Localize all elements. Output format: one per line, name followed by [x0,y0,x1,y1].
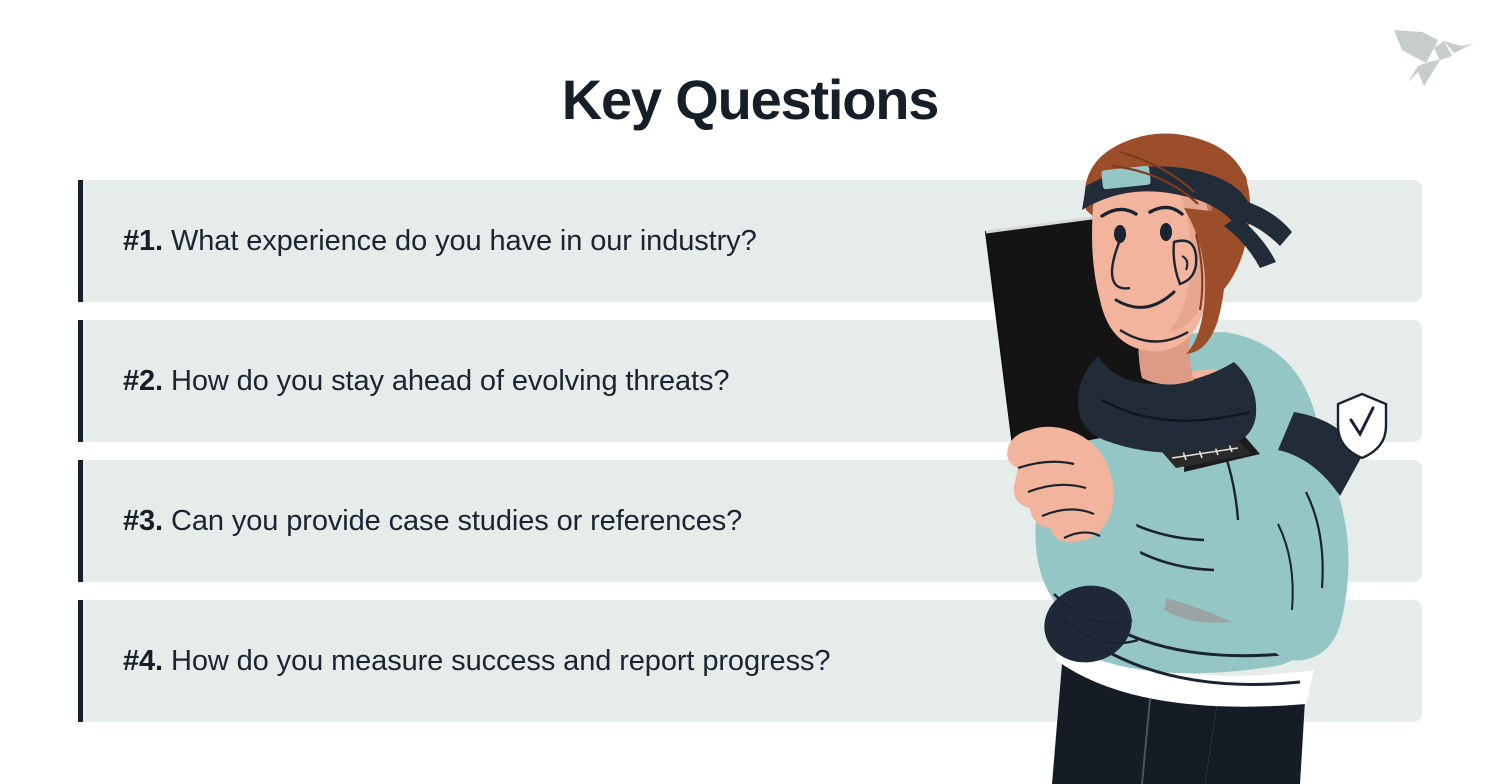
question-text: #1. What experience do you have in our i… [78,223,757,259]
row-accent-bar [78,600,83,722]
question-text: #3. Can you provide case studies or refe… [78,503,742,539]
row-accent-bar [78,180,83,302]
list-item[interactable]: #1. What experience do you have in our i… [78,180,1422,302]
row-accent-bar [78,320,83,442]
question-body: How do you stay ahead of evolving threat… [171,365,729,397]
list-item[interactable]: #4. How do you measure success and repor… [78,600,1422,722]
question-number: #4. [123,645,163,677]
row-accent-bar [78,460,83,582]
question-text: #4. How do you measure success and repor… [78,643,830,679]
page-title: Key Questions [0,67,1500,132]
questions-list: #1. What experience do you have in our i… [78,180,1422,722]
question-number: #2. [123,365,163,397]
list-item[interactable]: #2. How do you stay ahead of evolving th… [78,320,1422,442]
question-body: Can you provide case studies or referenc… [171,505,742,537]
question-number: #3. [123,505,163,537]
question-body: What experience do you have in our indus… [171,225,757,257]
slide-root: Key Questions #1. What experience do you… [0,0,1500,784]
question-number: #1. [123,225,163,257]
question-text: #2. How do you stay ahead of evolving th… [78,363,729,399]
origami-bird-logo [1382,16,1486,92]
question-body: How do you measure success and report pr… [171,645,830,677]
list-item[interactable]: #3. Can you provide case studies or refe… [78,460,1422,582]
